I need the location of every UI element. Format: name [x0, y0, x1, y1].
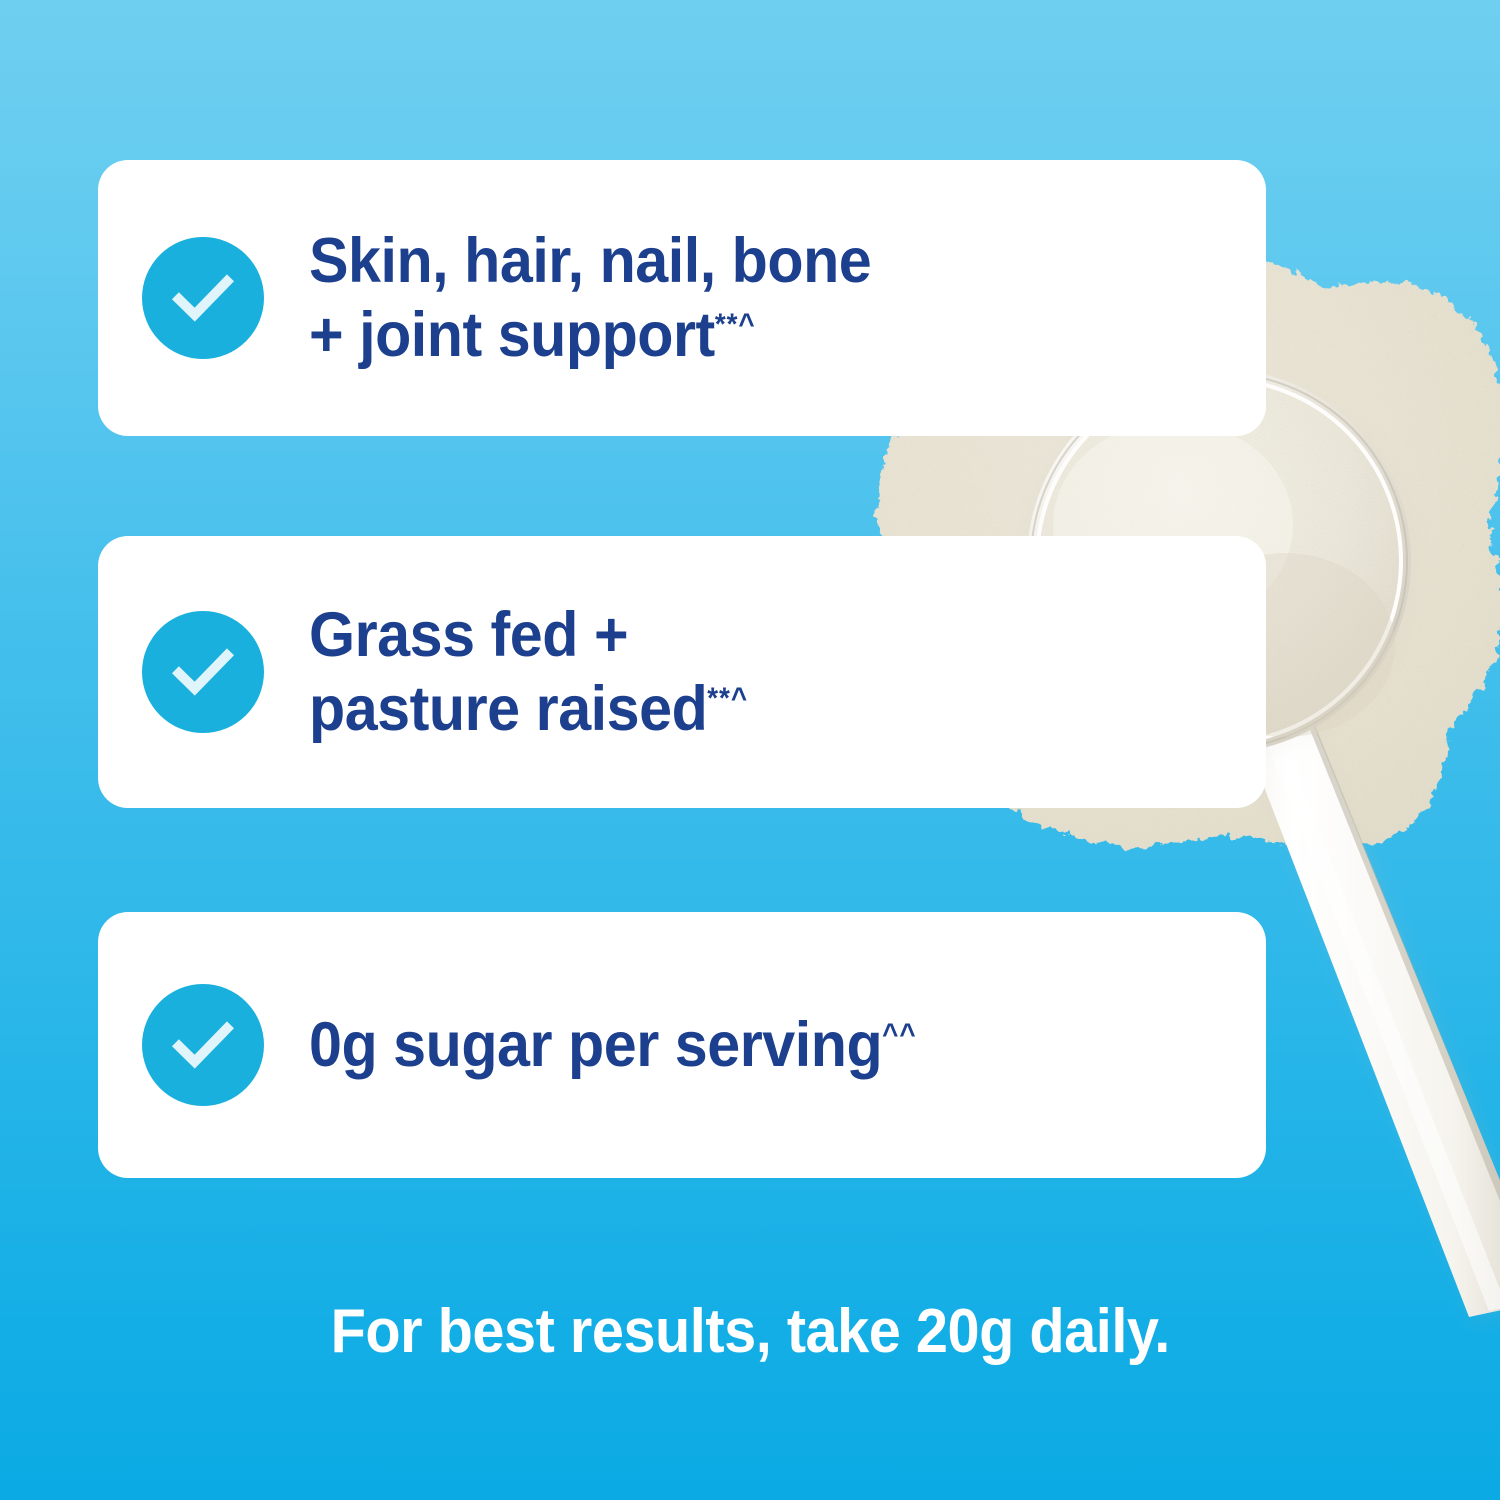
usage-instruction: For best results, take 20g daily. — [0, 1296, 1500, 1367]
benefit-text: Skin, hair, nail, bone+ joint support**^ — [309, 224, 871, 373]
check-icon — [142, 237, 264, 359]
benefit-card: Grass fed +pasture raised**^ — [98, 536, 1266, 808]
benefit-text: Grass fed +pasture raised**^ — [309, 598, 748, 747]
benefit-line-1: 0g sugar per serving — [309, 1010, 882, 1080]
benefit-superscript: **^ — [707, 682, 748, 715]
benefit-card: 0g sugar per serving^^ — [98, 912, 1266, 1178]
check-icon — [142, 611, 264, 733]
benefit-line-1: Grass fed + — [309, 600, 628, 670]
benefit-card: Skin, hair, nail, bone+ joint support**^ — [98, 160, 1266, 436]
benefit-line-1: Skin, hair, nail, bone — [309, 226, 871, 296]
benefit-superscript: **^ — [715, 308, 756, 341]
benefit-text: 0g sugar per serving^^ — [309, 1008, 917, 1082]
benefit-line-2: + joint support — [309, 300, 715, 370]
product-benefits-graphic: Skin, hair, nail, bone+ joint support**^… — [0, 0, 1500, 1500]
benefit-superscript: ^^ — [882, 1018, 916, 1051]
benefit-line-2: pasture raised — [309, 674, 707, 744]
usage-instruction-label: For best results, take 20g daily. — [330, 1296, 1169, 1367]
check-icon — [142, 984, 264, 1106]
